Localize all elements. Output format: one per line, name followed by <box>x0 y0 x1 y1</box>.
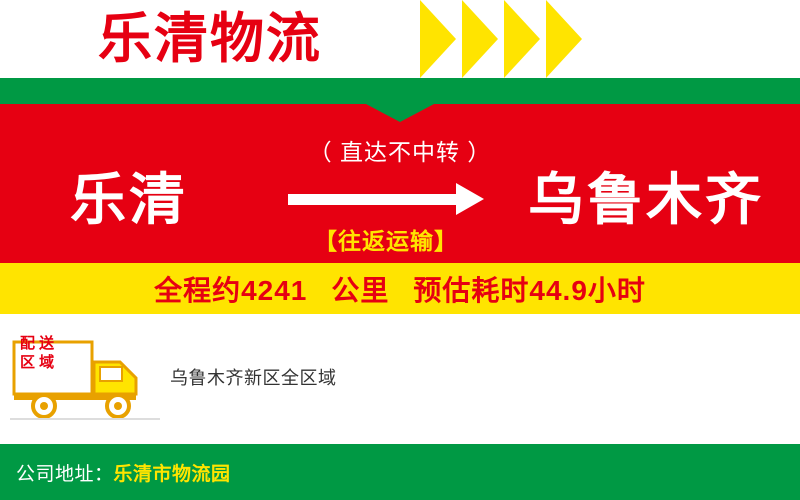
chevron-right-icon <box>462 0 498 78</box>
distance-value: 全程约4241 <box>154 275 307 306</box>
route-arrow-icon <box>288 180 484 220</box>
service-area: 配 送 区 域 乌鲁木齐新区全区域 <box>0 314 800 444</box>
direct-route-label: （ 直达不中转 ） <box>0 133 800 167</box>
stats-text: 全程约4241公里预估耗时44.9小时 <box>154 269 646 309</box>
stats-band: 全程约4241公里预估耗时44.9小时 <box>0 263 800 314</box>
triangle-down-icon <box>366 104 434 122</box>
chevron-right-icon <box>546 0 582 78</box>
company-address-line: 公司地址：乐清市物流园 <box>0 459 231 486</box>
origin-city-label: 乐清 <box>70 165 188 235</box>
chevron-right-icon <box>504 0 540 78</box>
duration-value: 预估耗时44.9小时 <box>413 275 646 306</box>
arrow-head <box>456 183 484 215</box>
round-trip-label: 【往返运输】 <box>288 222 484 256</box>
distance-unit: 公里 <box>331 275 389 306</box>
footer-bar: 公司地址：乐清市物流园 <box>0 444 800 500</box>
coverage-area-text: 乌鲁木齐新区全区域 <box>170 364 337 390</box>
delivery-area-badge: 配 送 区 域 <box>20 334 84 372</box>
address-value: 乐清市物流园 <box>114 464 231 485</box>
header-strip: 乐清物流 <box>0 0 800 78</box>
destination-city-label: 乌鲁木齐 <box>528 165 764 235</box>
delivery-badge-line2: 区 域 <box>20 353 84 372</box>
green-divider-band <box>0 78 800 104</box>
chevron-decoration-group <box>400 0 640 78</box>
logistics-banner: 乐清物流 （ 直达不中转 ） 乐清 【往返运输】 乌鲁木齐 全程约4241公里预… <box>0 0 800 500</box>
arrow-shaft <box>288 194 460 205</box>
address-label: 公司地址： <box>16 464 114 485</box>
delivery-badge-line1: 配 送 <box>20 334 84 353</box>
chevron-right-icon <box>420 0 456 78</box>
company-logo-text: 乐清物流 <box>98 6 322 72</box>
